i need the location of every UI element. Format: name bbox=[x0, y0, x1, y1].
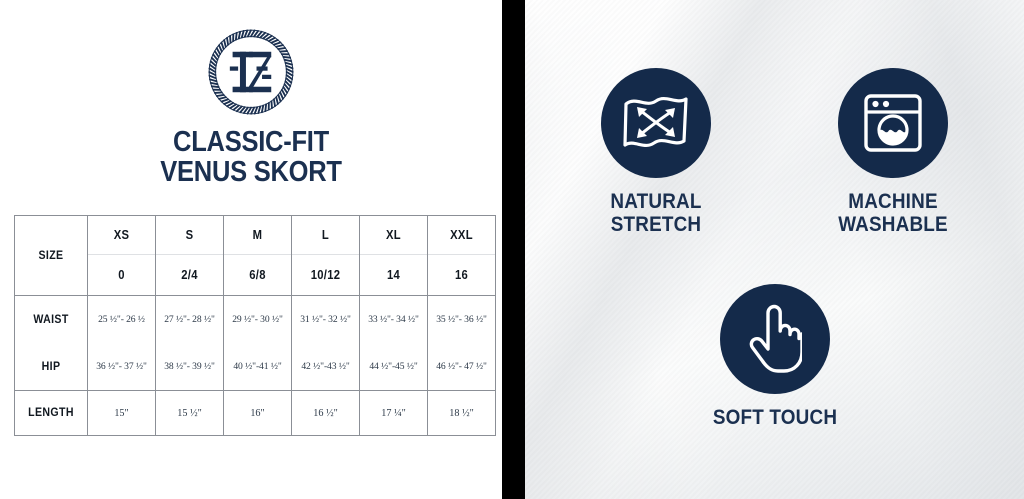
hip-xs: 36 ½"- 37 ½" bbox=[88, 361, 155, 372]
waist-xxl: 35 ½"- 36 ½" bbox=[428, 314, 495, 325]
table-cell-measurement: 40 ½"-41 ½" bbox=[224, 343, 292, 391]
table-cell-measurement: 44 ½"-45 ½" bbox=[360, 343, 428, 391]
table-cell-letter-size: L bbox=[292, 216, 360, 255]
length-xxl: 18 ½" bbox=[428, 408, 495, 419]
hip-l: 42 ½"-43 ½" bbox=[292, 361, 359, 372]
feature-label-line-1: NATURAL bbox=[566, 191, 746, 214]
numeric-size-xl: 14 bbox=[363, 268, 423, 282]
length-m: 16" bbox=[224, 408, 291, 419]
feature-natural-stretch: NATURAL STRETCH bbox=[556, 68, 756, 236]
table-cell-measurement: 17 ¼" bbox=[360, 391, 428, 436]
table-cell-measurement: 27 ½"- 28 ½" bbox=[156, 296, 224, 344]
table-row: LENGTH 15" 15 ½" 16" 16 ½" 17 ¼" 18 ½" bbox=[15, 391, 496, 436]
feature-label: NATURAL STRETCH bbox=[566, 191, 746, 236]
hip-xxl: 46 ½"- 47 ½" bbox=[428, 361, 495, 372]
page-title: CLASSIC-FIT VENUS SKORT bbox=[30, 128, 472, 188]
features-panel: NATURAL STRETCH MACHINE WASHABLE bbox=[525, 0, 1024, 499]
size-row-label: SIZE bbox=[18, 250, 84, 262]
letter-size-m: M bbox=[227, 228, 287, 242]
hip-xl: 44 ½"-45 ½" bbox=[360, 361, 427, 372]
length-s: 15 ½" bbox=[156, 408, 223, 419]
table-cell-letter-size: M bbox=[224, 216, 292, 255]
letter-size-xs: XS bbox=[91, 228, 151, 242]
table-row: HIP 36 ½"- 37 ½" 38 ½"- 39 ½" 40 ½"-41 ½… bbox=[15, 343, 496, 391]
row-label-cell-length: LENGTH bbox=[15, 391, 88, 436]
table-cell-letter-size: XXL bbox=[428, 216, 496, 255]
size-chart-table: SIZE XS S M L XL XXL 0 2/4 6/8 10/12 bbox=[14, 215, 496, 436]
hip-s: 38 ½"- 39 ½" bbox=[156, 361, 223, 372]
numeric-size-xs: 0 bbox=[91, 268, 151, 282]
table-cell-measurement: 36 ½"- 37 ½" bbox=[88, 343, 156, 391]
table-cell-numeric-size: 10/12 bbox=[292, 255, 360, 296]
row-label-cell-waist: WAIST bbox=[15, 296, 88, 344]
table-cell-numeric-size: 6/8 bbox=[224, 255, 292, 296]
row-label-length: LENGTH bbox=[18, 407, 84, 419]
row-label-waist: WAIST bbox=[18, 314, 84, 326]
feature-label-line-2: WASHABLE bbox=[803, 214, 983, 237]
table-cell-measurement: 16 ½" bbox=[292, 391, 360, 436]
feature-badge bbox=[720, 284, 830, 394]
length-l: 16 ½" bbox=[292, 408, 359, 419]
numeric-size-l: 10/12 bbox=[295, 268, 355, 282]
waist-m: 29 ½"- 30 ½" bbox=[224, 314, 291, 325]
table-cell-measurement: 46 ½"- 47 ½" bbox=[428, 343, 496, 391]
hip-m: 40 ½"-41 ½" bbox=[224, 361, 291, 372]
panel-divider bbox=[502, 0, 525, 499]
size-chart-panel: CLASSIC-FIT VENUS SKORT SIZE XS S M L XL… bbox=[0, 0, 502, 499]
table-row-letter-sizes: SIZE XS S M L XL XXL bbox=[15, 216, 496, 255]
feature-label: SOFT TOUCH bbox=[685, 407, 865, 430]
feature-label-line-2: STRETCH bbox=[566, 214, 746, 237]
letter-size-l: L bbox=[295, 228, 355, 242]
feature-machine-washable: MACHINE WASHABLE bbox=[793, 68, 993, 236]
letter-size-xl: XL bbox=[363, 228, 423, 242]
table-row: WAIST 25 ½"- 26 ½ 27 ½"- 28 ½" 29 ½"- 30… bbox=[15, 296, 496, 344]
waist-xl: 33 ½"- 34 ½" bbox=[360, 314, 427, 325]
table-cell-measurement: 18 ½" bbox=[428, 391, 496, 436]
feature-badge bbox=[838, 68, 948, 178]
table-cell-letter-size: S bbox=[156, 216, 224, 255]
waist-xs: 25 ½"- 26 ½ bbox=[88, 314, 155, 325]
table-cell-measurement: 42 ½"-43 ½" bbox=[292, 343, 360, 391]
waist-l: 31 ½"- 32 ½" bbox=[292, 314, 359, 325]
length-xl: 17 ¼" bbox=[360, 408, 427, 419]
table-cell-measurement: 31 ½"- 32 ½" bbox=[292, 296, 360, 344]
letter-size-xxl: XXL bbox=[431, 228, 491, 242]
feature-label-line-1: MACHINE bbox=[803, 191, 983, 214]
size-guide-graphic: CLASSIC-FIT VENUS SKORT SIZE XS S M L XL… bbox=[0, 0, 1024, 499]
feature-badge bbox=[601, 68, 711, 178]
table-row-numeric-sizes: 0 2/4 6/8 10/12 14 16 bbox=[15, 255, 496, 296]
size-row-label-cell: SIZE bbox=[15, 216, 88, 296]
brand-logo-container bbox=[0, 0, 502, 118]
table-cell-letter-size: XS bbox=[88, 216, 156, 255]
feature-label: MACHINE WASHABLE bbox=[803, 191, 983, 236]
table-cell-measurement: 38 ½"- 39 ½" bbox=[156, 343, 224, 391]
numeric-size-xxl: 16 bbox=[431, 268, 491, 282]
table-cell-numeric-size: 2/4 bbox=[156, 255, 224, 296]
table-cell-measurement: 29 ½"- 30 ½" bbox=[224, 296, 292, 344]
size-chart-table-container: SIZE XS S M L XL XXL 0 2/4 6/8 10/12 bbox=[14, 215, 488, 436]
washing-machine-icon bbox=[862, 92, 924, 154]
table-cell-measurement: 35 ½"- 36 ½" bbox=[428, 296, 496, 344]
numeric-size-m: 6/8 bbox=[227, 268, 287, 282]
product-title-line-2: VENUS SKORT bbox=[30, 158, 472, 188]
numeric-size-s: 2/4 bbox=[159, 268, 219, 282]
product-title-line-1: CLASSIC-FIT bbox=[30, 128, 472, 158]
iz-monogram-wreath-logo bbox=[205, 26, 297, 118]
feature-label-line-1: SOFT TOUCH bbox=[685, 407, 865, 430]
length-xs: 15" bbox=[88, 408, 155, 419]
table-cell-measurement: 25 ½"- 26 ½ bbox=[88, 296, 156, 344]
pointing-hand-icon bbox=[748, 304, 802, 374]
fabric-stretch-arrows-icon bbox=[622, 92, 690, 154]
table-cell-letter-size: XL bbox=[360, 216, 428, 255]
table-cell-measurement: 15 ½" bbox=[156, 391, 224, 436]
table-cell-measurement: 16" bbox=[224, 391, 292, 436]
table-cell-measurement: 15" bbox=[88, 391, 156, 436]
feature-soft-touch: SOFT TOUCH bbox=[675, 284, 875, 430]
table-cell-measurement: 33 ½"- 34 ½" bbox=[360, 296, 428, 344]
letter-size-s: S bbox=[159, 228, 219, 242]
row-label-cell-hip: HIP bbox=[15, 343, 88, 391]
table-cell-numeric-size: 14 bbox=[360, 255, 428, 296]
row-label-hip: HIP bbox=[18, 361, 84, 373]
table-cell-numeric-size: 16 bbox=[428, 255, 496, 296]
table-cell-numeric-size: 0 bbox=[88, 255, 156, 296]
waist-s: 27 ½"- 28 ½" bbox=[156, 314, 223, 325]
